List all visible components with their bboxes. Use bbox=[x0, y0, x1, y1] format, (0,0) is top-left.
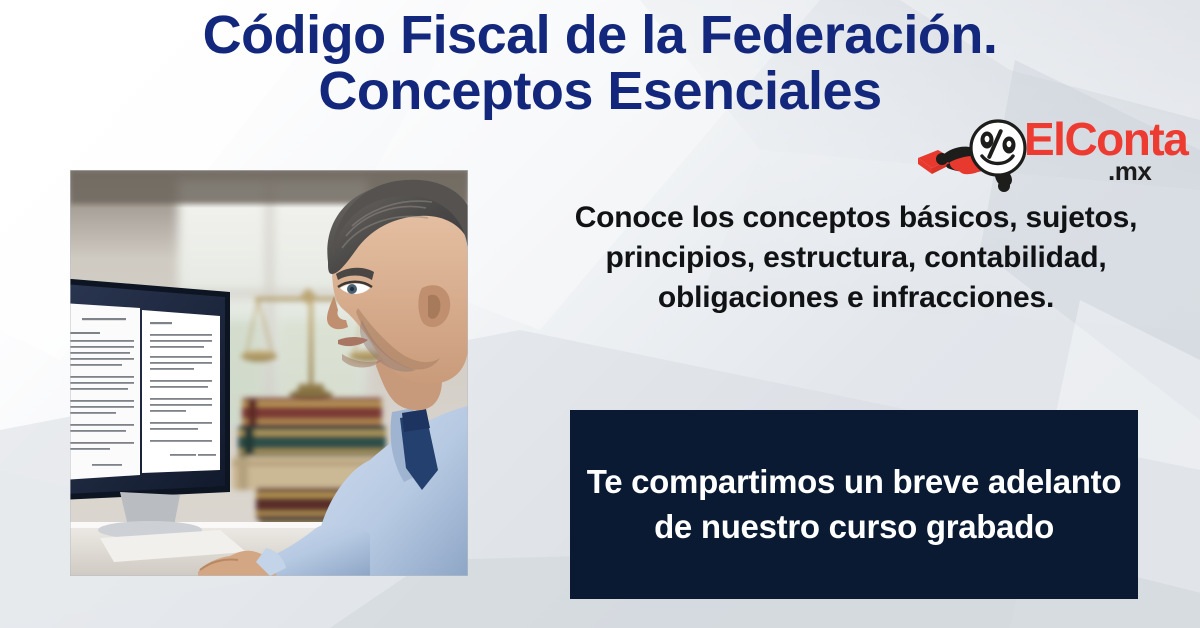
percent-smiley-face-icon bbox=[971, 121, 1025, 175]
callout-box: Te compartimos un breve adelanto de nues… bbox=[570, 410, 1138, 599]
elconta-logo[interactable]: ElConta .mx bbox=[912, 118, 1194, 200]
logo-wordmark: ElConta bbox=[1024, 116, 1187, 162]
logo-tld: .mx bbox=[1108, 158, 1151, 184]
photo-illustration bbox=[70, 170, 468, 576]
page-title-line-1: Código Fiscal de la Federación. bbox=[40, 8, 1160, 64]
banner-canvas: Código Fiscal de la Federación. Concepto… bbox=[0, 0, 1200, 628]
man-working-at-computer-photo bbox=[70, 170, 468, 576]
page-title-line-2: Conceptos Esenciales bbox=[40, 64, 1160, 120]
page-title: Código Fiscal de la Federación. Concepto… bbox=[0, 8, 1200, 119]
subheading-text: Conoce los conceptos básicos, sujetos, p… bbox=[528, 198, 1184, 318]
callout-text: Te compartimos un breve adelanto de nues… bbox=[570, 460, 1138, 548]
